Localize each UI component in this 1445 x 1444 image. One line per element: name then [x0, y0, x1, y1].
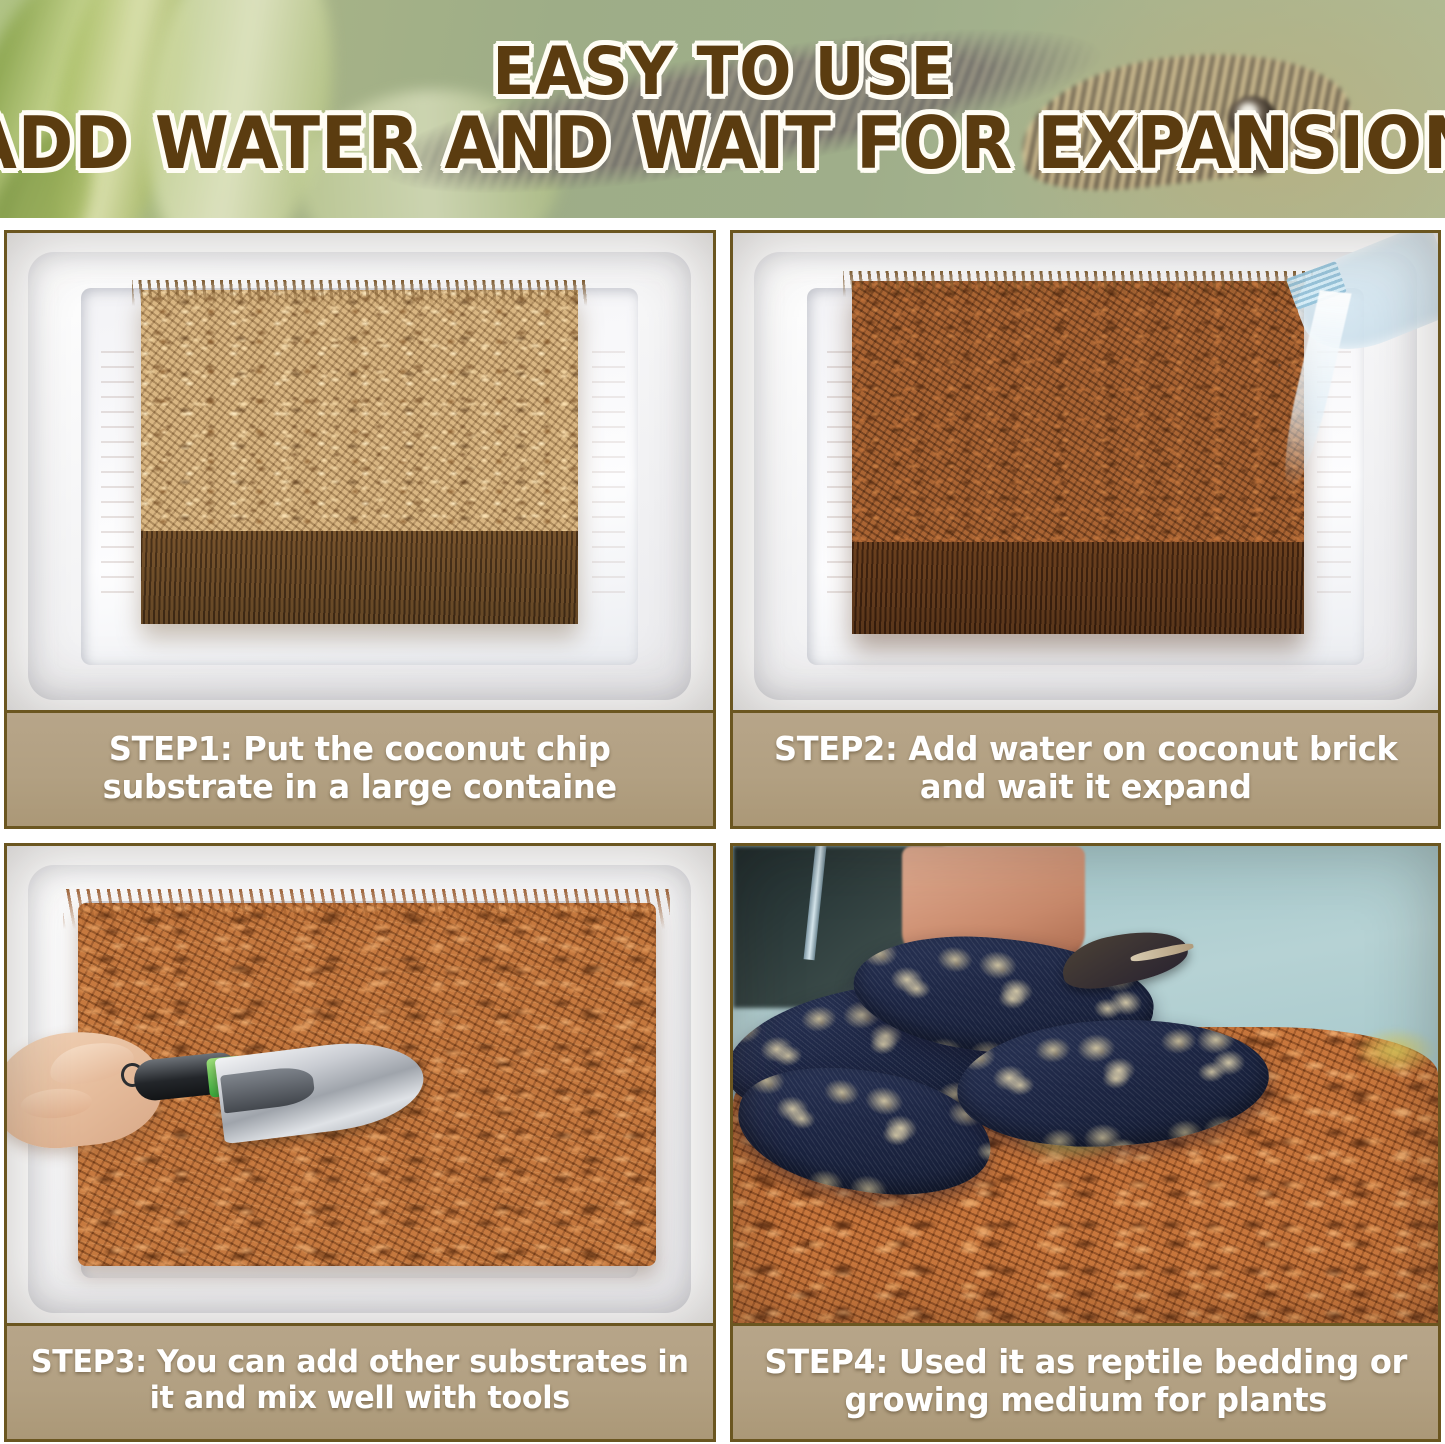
- step1-photo: [7, 233, 713, 710]
- wet-coconut-brick: [852, 281, 1304, 634]
- dry-coconut-brick: [141, 290, 578, 624]
- step4-photo: [733, 846, 1439, 1323]
- header-banner: EASY TO USE ADD WATER AND WAIT FOR EXPAN…: [0, 0, 1445, 218]
- brick-top-face: [852, 281, 1304, 542]
- brick-side-face: [141, 531, 578, 624]
- step-panel-2: STEP2: Add water on coconut brick and wa…: [730, 230, 1442, 829]
- ball-python: [733, 922, 1304, 1208]
- coconut-chip-texture: [141, 290, 578, 530]
- step2-caption-bar: STEP2: Add water on coconut brick and wa…: [733, 710, 1439, 826]
- husk-fringe: [63, 889, 670, 929]
- water-splash: [1269, 300, 1304, 405]
- step3-photo: [7, 846, 713, 1323]
- step4-caption-bar: STEP4: Used it as reptile bedding or gro…: [733, 1323, 1439, 1439]
- brick-fringe: [132, 280, 587, 306]
- header-title-line1: EASY TO USE: [492, 39, 953, 105]
- step3-caption-bar: STEP3: You can add other substrates in i…: [7, 1323, 713, 1439]
- step1-caption-text: STEP1: Put the coconut chip substrate in…: [27, 730, 692, 805]
- step-panel-3: STEP3: You can add other substrates in i…: [4, 843, 716, 1442]
- step2-caption-text: STEP2: Add water on coconut brick and wa…: [753, 730, 1418, 805]
- coconut-chip-texture: [852, 281, 1304, 542]
- step-panel-1: STEP1: Put the coconut chip substrate in…: [4, 230, 716, 829]
- brick-side-texture: [141, 531, 578, 624]
- step3-caption-text: STEP3: You can add other substrates in i…: [27, 1345, 692, 1415]
- brick-top-face: [141, 290, 578, 530]
- header-text-block: EASY TO USE ADD WATER AND WAIT FOR EXPAN…: [0, 0, 1445, 218]
- tray-measure-marks: [101, 351, 134, 602]
- tray-measure-marks: [592, 351, 625, 602]
- infographic-sheet: EASY TO USE ADD WATER AND WAIT FOR EXPAN…: [0, 0, 1445, 1444]
- brick-side-texture: [852, 542, 1304, 634]
- brick-side-face: [852, 542, 1304, 634]
- header-title-line2: ADD WATER AND WAIT FOR EXPANSION: [0, 107, 1445, 179]
- step2-photo: [733, 233, 1439, 710]
- brick-fringe: [843, 271, 1313, 297]
- step1-caption-bar: STEP1: Put the coconut chip substrate in…: [7, 710, 713, 826]
- step-panel-4: STEP4: Used it as reptile bedding or gro…: [730, 843, 1442, 1442]
- moss-tuft: [1353, 1027, 1438, 1075]
- step4-caption-text: STEP4: Used it as reptile bedding or gro…: [753, 1343, 1418, 1418]
- steps-grid: STEP1: Put the coconut chip substrate in…: [0, 224, 1445, 1444]
